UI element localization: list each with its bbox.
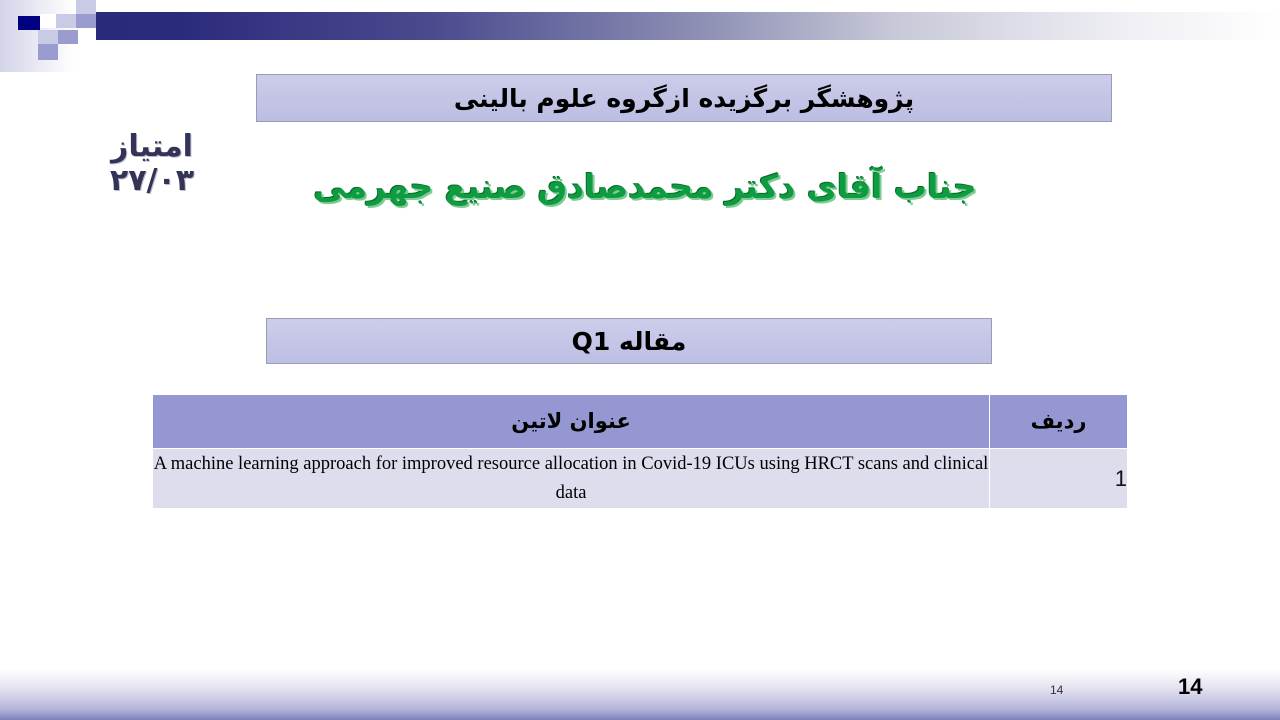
table-row: 1 A machine learning approach for improv… (153, 449, 1128, 509)
papers-table: ردیف عنوان لاتین 1 A machine learning ap… (152, 394, 1128, 509)
slide-canvas: پژوهشگر برگزیده ازگروه علوم بالینی امتیا… (0, 0, 1280, 720)
deco-square-mid-1 (76, 14, 96, 28)
article-section-header-box: مقاله Q1 (266, 318, 992, 364)
top-gradient-banner (0, 12, 1280, 40)
deco-square-white-1 (40, 14, 56, 28)
slide-title-text: پژوهشگر برگزیده ازگروه علوم بالینی (454, 86, 914, 111)
table-header-label-title: عنوان لاتین (511, 409, 631, 433)
table-header-row: ردیف عنوان لاتین (153, 395, 1128, 449)
slide-title-box: پژوهشگر برگزیده ازگروه علوم بالینی (256, 74, 1112, 122)
table-cell-title: A machine learning approach for improved… (153, 449, 990, 509)
table-cell-index: 1 (990, 449, 1128, 509)
table-header-cell-row: ردیف (990, 395, 1128, 449)
deco-square-light-3 (38, 30, 58, 44)
article-section-header-text: مقاله Q1 (572, 329, 687, 354)
page-number-small: 14 (1050, 683, 1063, 697)
papers-table-head: ردیف عنوان لاتین (153, 395, 1128, 449)
score-block: امتیاز ۲۷/۰۳ (84, 130, 220, 197)
table-header-label-row: ردیف (1031, 409, 1087, 433)
deco-square-mid-3 (38, 44, 58, 60)
page-number-large: 14 (1178, 674, 1202, 700)
researcher-name-text: جناب آقای دکتر محمدصادق صنیع جهرمی (313, 167, 976, 206)
researcher-name-line: جناب آقای دکتر محمدصادق صنیع جهرمی (230, 168, 1060, 206)
deco-square-light-1 (76, 0, 96, 14)
bottom-gradient-banner (0, 658, 1280, 720)
papers-table-body: 1 A machine learning approach for improv… (153, 449, 1128, 509)
deco-square-mid-2 (58, 30, 78, 44)
score-label: امتیاز (84, 130, 220, 164)
deco-square-navy (18, 16, 40, 30)
score-value: ۲۷/۰۳ (84, 164, 220, 198)
deco-square-light-2 (56, 14, 76, 28)
table-header-cell-title: عنوان لاتین (153, 395, 990, 449)
